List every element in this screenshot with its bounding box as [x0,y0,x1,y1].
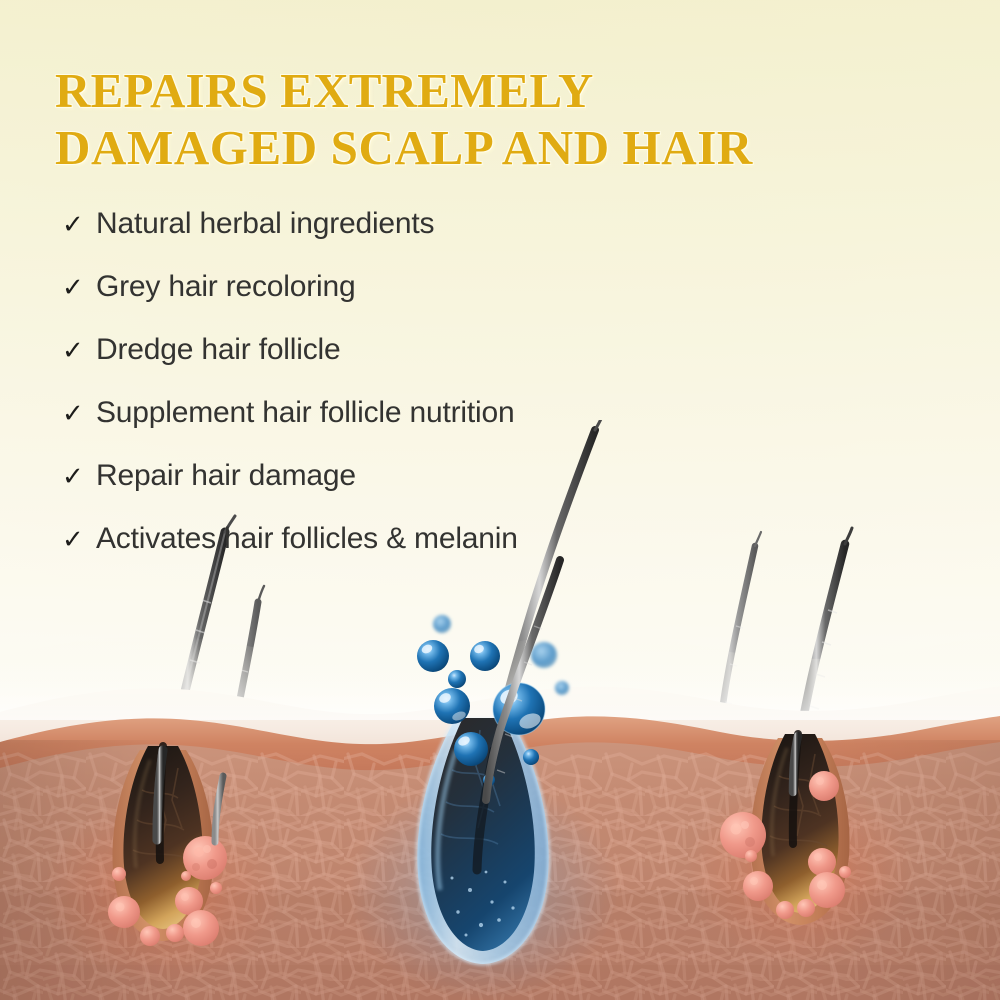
droplet [531,642,557,668]
page-title: REPAIRS EXTREMELY DAMAGED SCALP AND HAIR [55,62,935,176]
feature-label: Natural herbal ingredients [96,209,434,239]
title-line-2: DAMAGED SCALP AND HAIR [55,119,935,176]
feature-label: Repair hair damage [96,461,356,491]
droplet [454,732,488,766]
list-item: ✓ Activates hair follicles & melanin [62,524,822,587]
product-feature-poster: REPAIRS EXTREMELY DAMAGED SCALP AND HAIR… [0,0,1000,1000]
check-icon: ✓ [62,527,96,553]
droplet [434,688,470,724]
check-icon: ✓ [62,212,96,238]
feature-label: Supplement hair follicle nutrition [96,398,514,428]
droplet [470,641,500,671]
droplet [523,749,539,765]
title-line-1: REPAIRS EXTREMELY [55,62,935,119]
droplet [555,681,569,695]
check-icon: ✓ [62,401,96,427]
droplet [433,615,451,633]
feature-label: Dredge hair follicle [96,335,340,365]
list-item: ✓ Natural herbal ingredients [62,209,822,272]
list-item: ✓ Supplement hair follicle nutrition [62,398,822,461]
list-item: ✓ Repair hair damage [62,461,822,524]
droplet [448,670,466,688]
check-icon: ✓ [62,338,96,364]
list-item: ✓ Dredge hair follicle [62,335,822,398]
feature-label: Activates hair follicles & melanin [96,524,518,554]
list-item: ✓ Grey hair recoloring [62,272,822,335]
feature-list: ✓ Natural herbal ingredients ✓ Grey hair… [62,209,822,587]
check-icon: ✓ [62,464,96,490]
check-icon: ✓ [62,275,96,301]
feature-label: Grey hair recoloring [96,272,355,302]
droplet [417,640,449,672]
